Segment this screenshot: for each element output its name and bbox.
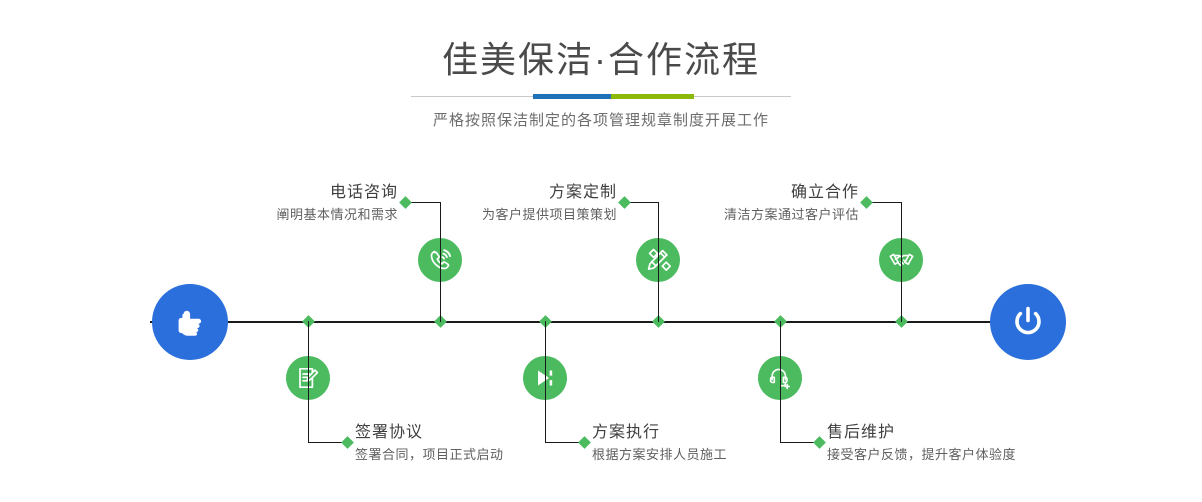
power-icon	[1007, 301, 1049, 343]
process-flow-infographic: 佳美保洁·合作流程 严格按照保洁制定的各项管理规章制度开展工作	[0, 0, 1202, 502]
header: 佳美保洁·合作流程 严格按照保洁制定的各项管理规章制度开展工作	[0, 0, 1202, 130]
divider-segment-green	[611, 94, 694, 99]
step-desc-4: 根据方案安排人员施工	[592, 444, 842, 466]
step-label-6: 售后维护 接受客户反馈，提升客户体验度	[827, 422, 1117, 466]
step-connector-vertical-4	[545, 321, 546, 443]
step-label-4: 方案执行 根据方案安排人员施工	[592, 422, 842, 466]
step-label-marker-2	[341, 436, 354, 449]
step-label-1: 电话咨询 阐明基本情况和需求	[201, 182, 398, 226]
step-title-5: 确立合作	[655, 182, 859, 204]
flow-start-node	[152, 284, 228, 360]
step-label-5: 确立合作 清洁方案通过客户评估	[655, 182, 859, 226]
step-desc-2: 签署合同，项目正式启动	[355, 444, 605, 466]
step-title-2: 签署协议	[355, 422, 605, 444]
step-label-marker-3	[618, 196, 631, 209]
page-title: 佳美保洁·合作流程	[0, 0, 1202, 82]
step-desc-3: 为客户提供项目策策划	[420, 204, 617, 226]
timeline-axis	[150, 321, 1052, 323]
pointing-hand-icon	[170, 302, 210, 342]
step-connector-vertical-5	[901, 202, 902, 322]
step-desc-6: 接受客户反馈，提升客户体验度	[827, 444, 1117, 466]
step-connector-horizontal-5	[869, 202, 902, 203]
step-label-marker-5	[860, 196, 873, 209]
step-title-1: 电话咨询	[201, 182, 398, 204]
step-label-marker-1	[399, 196, 412, 209]
title-divider	[411, 94, 791, 99]
step-title-3: 方案定制	[420, 182, 617, 204]
page-subtitle: 严格按照保洁制定的各项管理规章制度开展工作	[0, 99, 1202, 130]
divider-segment-blue	[533, 94, 611, 99]
step-label-3: 方案定制 为客户提供项目策策划	[420, 182, 617, 226]
step-title-4: 方案执行	[592, 422, 842, 444]
step-desc-1: 阐明基本情况和需求	[201, 204, 398, 226]
step-label-2: 签署协议 签署合同，项目正式启动	[355, 422, 605, 466]
step-title-6: 售后维护	[827, 422, 1117, 444]
step-connector-vertical-6	[780, 321, 781, 443]
step-connector-vertical-2	[308, 321, 309, 443]
flow-end-node	[990, 284, 1066, 360]
step-desc-5: 清洁方案通过客户评估	[655, 204, 859, 226]
flow-diagram: 电话咨询 阐明基本情况和需求 签署协议 签署合同，项目正式启动	[0, 150, 1202, 502]
